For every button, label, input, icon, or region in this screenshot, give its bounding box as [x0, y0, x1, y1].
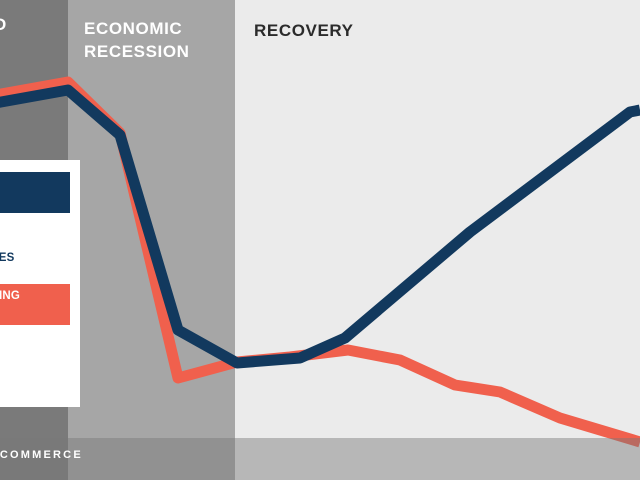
legend-spacer-navy: [0, 233, 70, 247]
coral-line-series: [0, 82, 640, 442]
legend-spacer-coral: [0, 325, 70, 339]
legend-swatch-navy: G S: [0, 172, 70, 213]
legend-group-coral: S NEEDING E MENT Y ICES: [0, 284, 70, 389]
legend-label-navy-technology: GY: [0, 213, 70, 232]
legend-group-navy: G S GY SERVICES: [0, 172, 70, 266]
chart-canvas: ED ECONOMIC RECESSION RECOVERY G S GY SE…: [0, 0, 640, 480]
footer-organization-label: ER OF COMMERCE: [0, 449, 83, 461]
legend-label-navy-services: SERVICES: [0, 247, 70, 266]
line-chart-plot: [0, 0, 640, 480]
legend-label-coral-detail: MENT Y ICES: [0, 339, 70, 389]
navy-line-series: [0, 90, 640, 363]
chart-legend: G S GY SERVICES S NEEDING E MENT Y ICES: [0, 160, 80, 407]
legend-spacer-mid: [0, 270, 70, 284]
footer-bar: [0, 438, 640, 480]
legend-swatch-coral: S NEEDING E: [0, 284, 70, 325]
